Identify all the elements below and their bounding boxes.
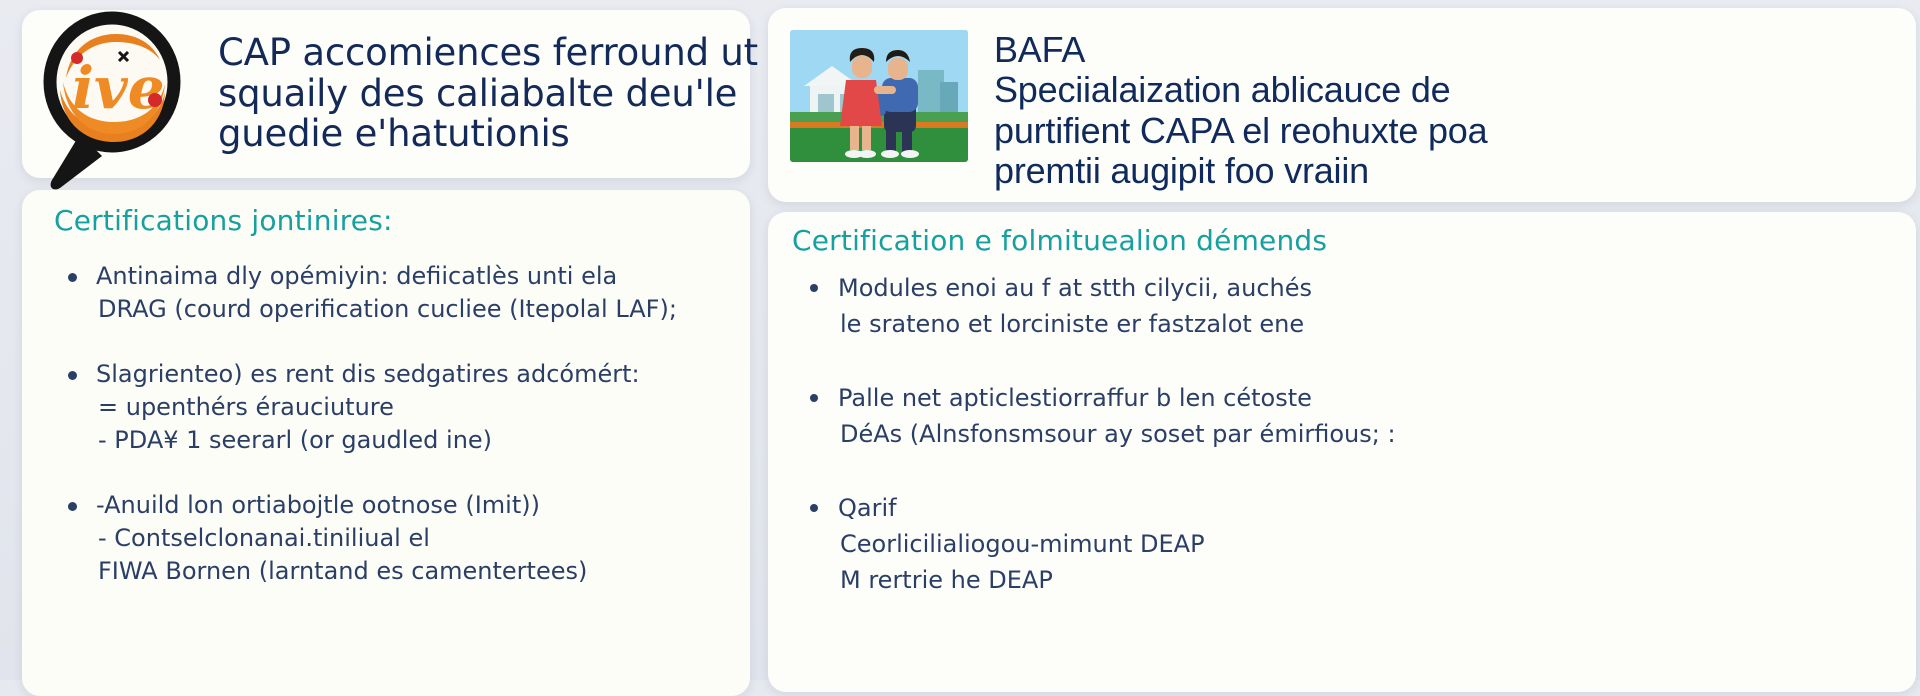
bullet-line: - PDA¥ 1 seerarl (or gaudled ine): [96, 424, 750, 457]
right-header-inner: BAFA Speciialaization ablicauce de purti…: [768, 8, 1916, 202]
bullet-line: Antinaima dly opémiyin: defiicatlès unti…: [96, 260, 750, 293]
right-body-card[interactable]: Certification e folmituealion démends Mo…: [768, 212, 1916, 692]
bullet-line: le srateno et lorciniste er fastzalot en…: [838, 306, 1916, 342]
bullet-dot-icon: [68, 502, 77, 511]
bullet-line: = upenthérs érauciuture: [96, 391, 750, 424]
list-item[interactable]: Modules enoi au f at stth cilycii, auché…: [796, 270, 1916, 342]
right-title-line-4: premtii augipit foo vraiin: [994, 151, 1898, 191]
right-section-heading: Certification e folmituealion démends: [792, 224, 1327, 257]
bullet-dot-icon: [810, 394, 818, 402]
right-bullet-list: Modules enoi au f at stth cilycii, auché…: [768, 270, 1916, 636]
left-title-line-3: guedie e'hatutionis: [218, 114, 758, 155]
left-card-title: CAP accomiences ferround ut squaily des …: [218, 33, 782, 155]
list-item[interactable]: Slagrienteo) es rent dis sedgatires adcó…: [56, 358, 750, 457]
bullet-line: - Contselclonanai.tiniliual el: [96, 522, 750, 555]
bullet-dot-icon: [68, 371, 77, 380]
list-item[interactable]: Palle net apticlestiorraffur b len cétos…: [796, 380, 1916, 452]
right-title-line-3: purtifient CAPA el reohuxte poa: [994, 111, 1898, 151]
magnifier-ive-logo-icon: ive: [36, 16, 196, 191]
page-root: ive CAP accomiences ferround ut squaily …: [0, 0, 1920, 680]
bullet-dot-icon: [810, 284, 818, 292]
list-item[interactable]: Qarif Ceorlicilialiogou-mimunt DEAP M re…: [796, 490, 1916, 598]
right-column: BAFA Speciialaization ablicauce de purti…: [768, 0, 1920, 680]
bullet-dot-icon: [810, 504, 818, 512]
right-title-line-2: Speciialaization ablicauce de: [994, 70, 1898, 110]
bullet-line: M rertrie he DEAP: [838, 562, 1916, 598]
left-title-line-1: CAP accomiences ferround ut: [218, 33, 758, 74]
right-header-card[interactable]: BAFA Speciialaization ablicauce de purti…: [768, 8, 1916, 202]
left-header-card[interactable]: ive CAP accomiences ferround ut squaily …: [22, 10, 750, 178]
list-item[interactable]: -Anuild lon ortiabojtle ootnose (Imit)) …: [56, 489, 750, 588]
bullet-line: Qarif: [838, 490, 1916, 526]
list-item[interactable]: Antinaima dly opémiyin: defiicatlès unti…: [56, 260, 750, 326]
bullet-line: Modules enoi au f at stth cilycii, auché…: [838, 270, 1916, 306]
left-title-line-2: squaily des caliabalte deu'le: [218, 74, 758, 115]
bullet-line: -Anuild lon ortiabojtle ootnose (Imit)): [96, 489, 750, 522]
right-card-title: BAFA Speciialaization ablicauce de purti…: [968, 30, 1916, 191]
left-header-inner: ive CAP accomiences ferround ut squaily …: [22, 10, 750, 178]
logo-slot: ive: [22, 10, 218, 178]
left-column: ive CAP accomiences ferround ut squaily …: [0, 0, 760, 680]
bullet-line: Palle net apticlestiorraffur b len cétos…: [838, 380, 1916, 416]
left-section-heading: Certifications jontinires:: [54, 204, 393, 237]
bullet-line: DéAs (Alnsfonsmsour ay soset par émirfio…: [838, 416, 1916, 452]
bullet-dot-icon: [68, 273, 77, 282]
bullet-line: DRAG (courd operification cucliee (Itepo…: [96, 293, 750, 326]
bullet-line: Slagrienteo) es rent dis sedgatires adcó…: [96, 358, 750, 391]
two-people-outdoor-illustration-icon: [790, 30, 968, 162]
left-body-card[interactable]: Certifications jontinires: Antinaima dly…: [22, 190, 750, 696]
left-bullet-list: Antinaima dly opémiyin: defiicatlès unti…: [22, 260, 750, 620]
right-title-line-1: BAFA: [994, 30, 1898, 70]
bullet-line: FIWA Bornen (larntand es camentertees): [96, 555, 750, 588]
svg-text:ive: ive: [72, 54, 165, 122]
bullet-line: Ceorlicilialiogou-mimunt DEAP: [838, 526, 1916, 562]
